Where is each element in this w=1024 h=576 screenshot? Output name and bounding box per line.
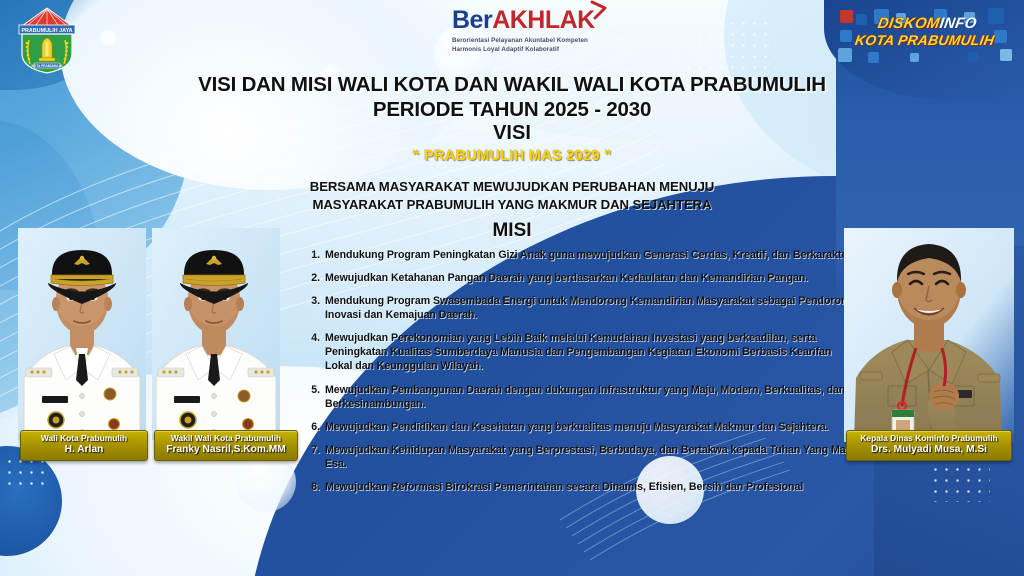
diskominfo-wordmark: DISKOMINFO KOTA PRABUMULIH	[844, 16, 1009, 47]
nameplate-name: Drs. Mulyadi Musa, M.Si	[853, 444, 1005, 456]
berakhlak-wordmark: BerAKHLAK	[452, 8, 595, 33]
misi-item: 2. Mewujudkan Ketahanan Pangan Daerah ya…	[306, 271, 858, 285]
misi-item: 7. Mewujudkan Kehidupan Masyarakat yang …	[306, 443, 858, 471]
misi-item-text: Mewujudkan Reformasi Birokrasi Pemerinta…	[325, 480, 858, 494]
berakhlak-tagline: Berorientasi Pelayanan Akuntabel Kompete…	[452, 36, 632, 55]
nameplate-wali-kota: Wali Kota Prabumulih H. Arlan	[20, 430, 148, 461]
nameplate-role: Wakil Wali Kota Prabumulih	[161, 434, 291, 444]
nameplate-kepala-dinas: Kepala Dinas Kominfo Prabumulih Drs. Mul…	[846, 430, 1012, 461]
dot-grid-bottom-left	[4, 456, 46, 490]
misi-item: 3. Mendukung Program Swasembada Energi u…	[306, 294, 858, 322]
page-title-line1: VISI DAN MISI WALI KOTA DAN WAKIL WALI K…	[198, 73, 826, 96]
prabumulih-jaya-emblem-icon: PRABUMULIH JAYA KOTA PRABUMULIH	[16, 6, 78, 74]
nameplate-wakil-wali-kota: Wakil Wali Kota Prabumulih Franky Nasril…	[154, 430, 298, 461]
misi-item-text: Mendukung Program Peningkatan Gizi Anak …	[325, 248, 858, 262]
background-circle-bottom-left	[236, 452, 296, 512]
misi-item-number: 6.	[306, 420, 320, 434]
diskominfo-line1-b: INFO	[938, 15, 978, 32]
misi-item-number: 7.	[306, 443, 320, 471]
svg-text:KOTA PRABUMULIH: KOTA PRABUMULIH	[32, 64, 64, 68]
berakhlak-swoosh-icon	[590, 0, 608, 20]
misi-item-text: Mendukung Program Swasembada Energi untu…	[325, 294, 858, 322]
background-circle-tiny	[100, 30, 116, 46]
misi-item: 6. Mewujudkan Pendidikan dan Kesehatan y…	[306, 420, 858, 434]
photo-kepala-dinas-kominfo	[844, 228, 1014, 442]
misi-item-number: 5.	[306, 383, 320, 411]
diskominfo-line1-a: DISKOM	[877, 15, 942, 32]
nameplate-role: Kepala Dinas Kominfo Prabumulih	[853, 434, 1005, 444]
visi-statement-line2: MASYARAKAT PRABUMULIH YANG MAKMUR DAN SE…	[0, 196, 1024, 214]
misi-item-number: 1.	[306, 248, 320, 262]
page-title-line2: PERIODE TAHUN 2025 - 2030	[0, 97, 1024, 122]
visi-heading: VISI	[0, 122, 1024, 145]
diskominfo-line2: KOTA PRABUMULIH	[844, 33, 1006, 48]
diskominfo-line1: DISKOMINFO	[846, 16, 1008, 32]
misi-item: 1. Mendukung Program Peningkatan Gizi An…	[306, 248, 858, 262]
berakhlak-tagline-line2: Harmonis Loyal Adaptif Kolaboratif	[452, 45, 632, 54]
poster-canvas: PRABUMULIH JAYA KOTA PRABUMULIH B	[0, 0, 1024, 576]
berakhlak-tagline-line1: Berorientasi Pelayanan Akuntabel Kompete…	[452, 36, 632, 45]
misi-item-text: Mewujudkan Perekonomian yang Lebih Baik …	[325, 331, 858, 373]
svg-text:PRABUMULIH JAYA: PRABUMULIH JAYA	[21, 28, 72, 34]
misi-item: 8. Mewujudkan Reformasi Birokrasi Pemeri…	[306, 480, 858, 494]
berakhlak-prefix: Ber	[452, 6, 492, 34]
berakhlak-logo: BerAKHLAK Berorientasi Pelayanan Akuntab…	[452, 8, 632, 55]
misi-item-number: 4.	[306, 331, 320, 373]
nameplate-name: Franky Nasril,S.Kom.MM	[161, 444, 291, 456]
misi-item: 5. Mewujudkan Pembangunan Daerah dengan …	[306, 383, 858, 411]
misi-list: 1. Mendukung Program Peningkatan Gizi An…	[306, 248, 858, 503]
nameplate-name: H. Arlan	[27, 444, 141, 456]
misi-item-text: Mewujudkan Pembangunan Daerah dengan duk…	[325, 383, 858, 411]
nameplate-role: Wali Kota Prabumulih	[27, 434, 141, 444]
misi-item-text: Mewujudkan Ketahanan Pangan Daerah yang …	[325, 271, 858, 285]
misi-item-number: 8.	[306, 480, 320, 494]
misi-item: 4. Mewujudkan Perekonomian yang Lebih Ba…	[306, 331, 858, 373]
misi-item-number: 2.	[306, 271, 320, 285]
misi-item-text: Mewujudkan Kehidupan Masyarakat yang Ber…	[325, 443, 858, 471]
misi-item-number: 3.	[306, 294, 320, 322]
visi-statement: BERSAMA MASYARAKAT MEWUJUDKAN PERUBAHAN …	[0, 178, 1024, 214]
visi-tagline: “ PRABUMULIH MAS 2029 ”	[0, 148, 1024, 164]
berakhlak-suffix: AKHLAK	[492, 6, 595, 34]
photo-wali-kota	[18, 228, 146, 440]
visi-statement-line1: BERSAMA MASYARAKAT MEWUJUDKAN PERUBAHAN …	[0, 178, 1024, 196]
page-title: VISI DAN MISI WALI KOTA DAN WAKIL WALI K…	[0, 72, 1024, 123]
photo-wakil-wali-kota	[152, 228, 280, 440]
misi-item-text: Mewujudkan Pendidikan dan Kesehatan yang…	[325, 420, 858, 434]
diskominfo-logo: DISKOMINFO KOTA PRABUMULIH	[838, 8, 1014, 64]
